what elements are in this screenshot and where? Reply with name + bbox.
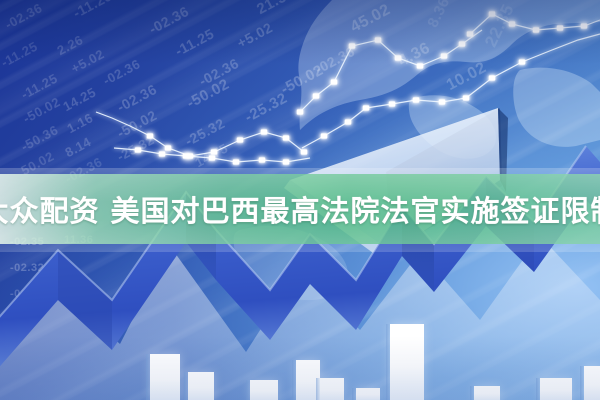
bar-column — [320, 378, 344, 400]
page-title: 大众配资 美国对巴西最高法院法官实施签证限制 — [0, 186, 600, 232]
bar-column — [474, 386, 500, 400]
bar-column — [188, 372, 214, 400]
bar-column — [390, 324, 424, 400]
bar-column — [356, 388, 380, 400]
bar-column — [250, 380, 278, 400]
bar-column — [540, 378, 572, 400]
stock-market-banner-image: -02.36-11.25-02.3621.3645.024.3610.02-11… — [0, 0, 600, 400]
bar-column — [584, 366, 600, 400]
bar-column — [150, 354, 180, 400]
